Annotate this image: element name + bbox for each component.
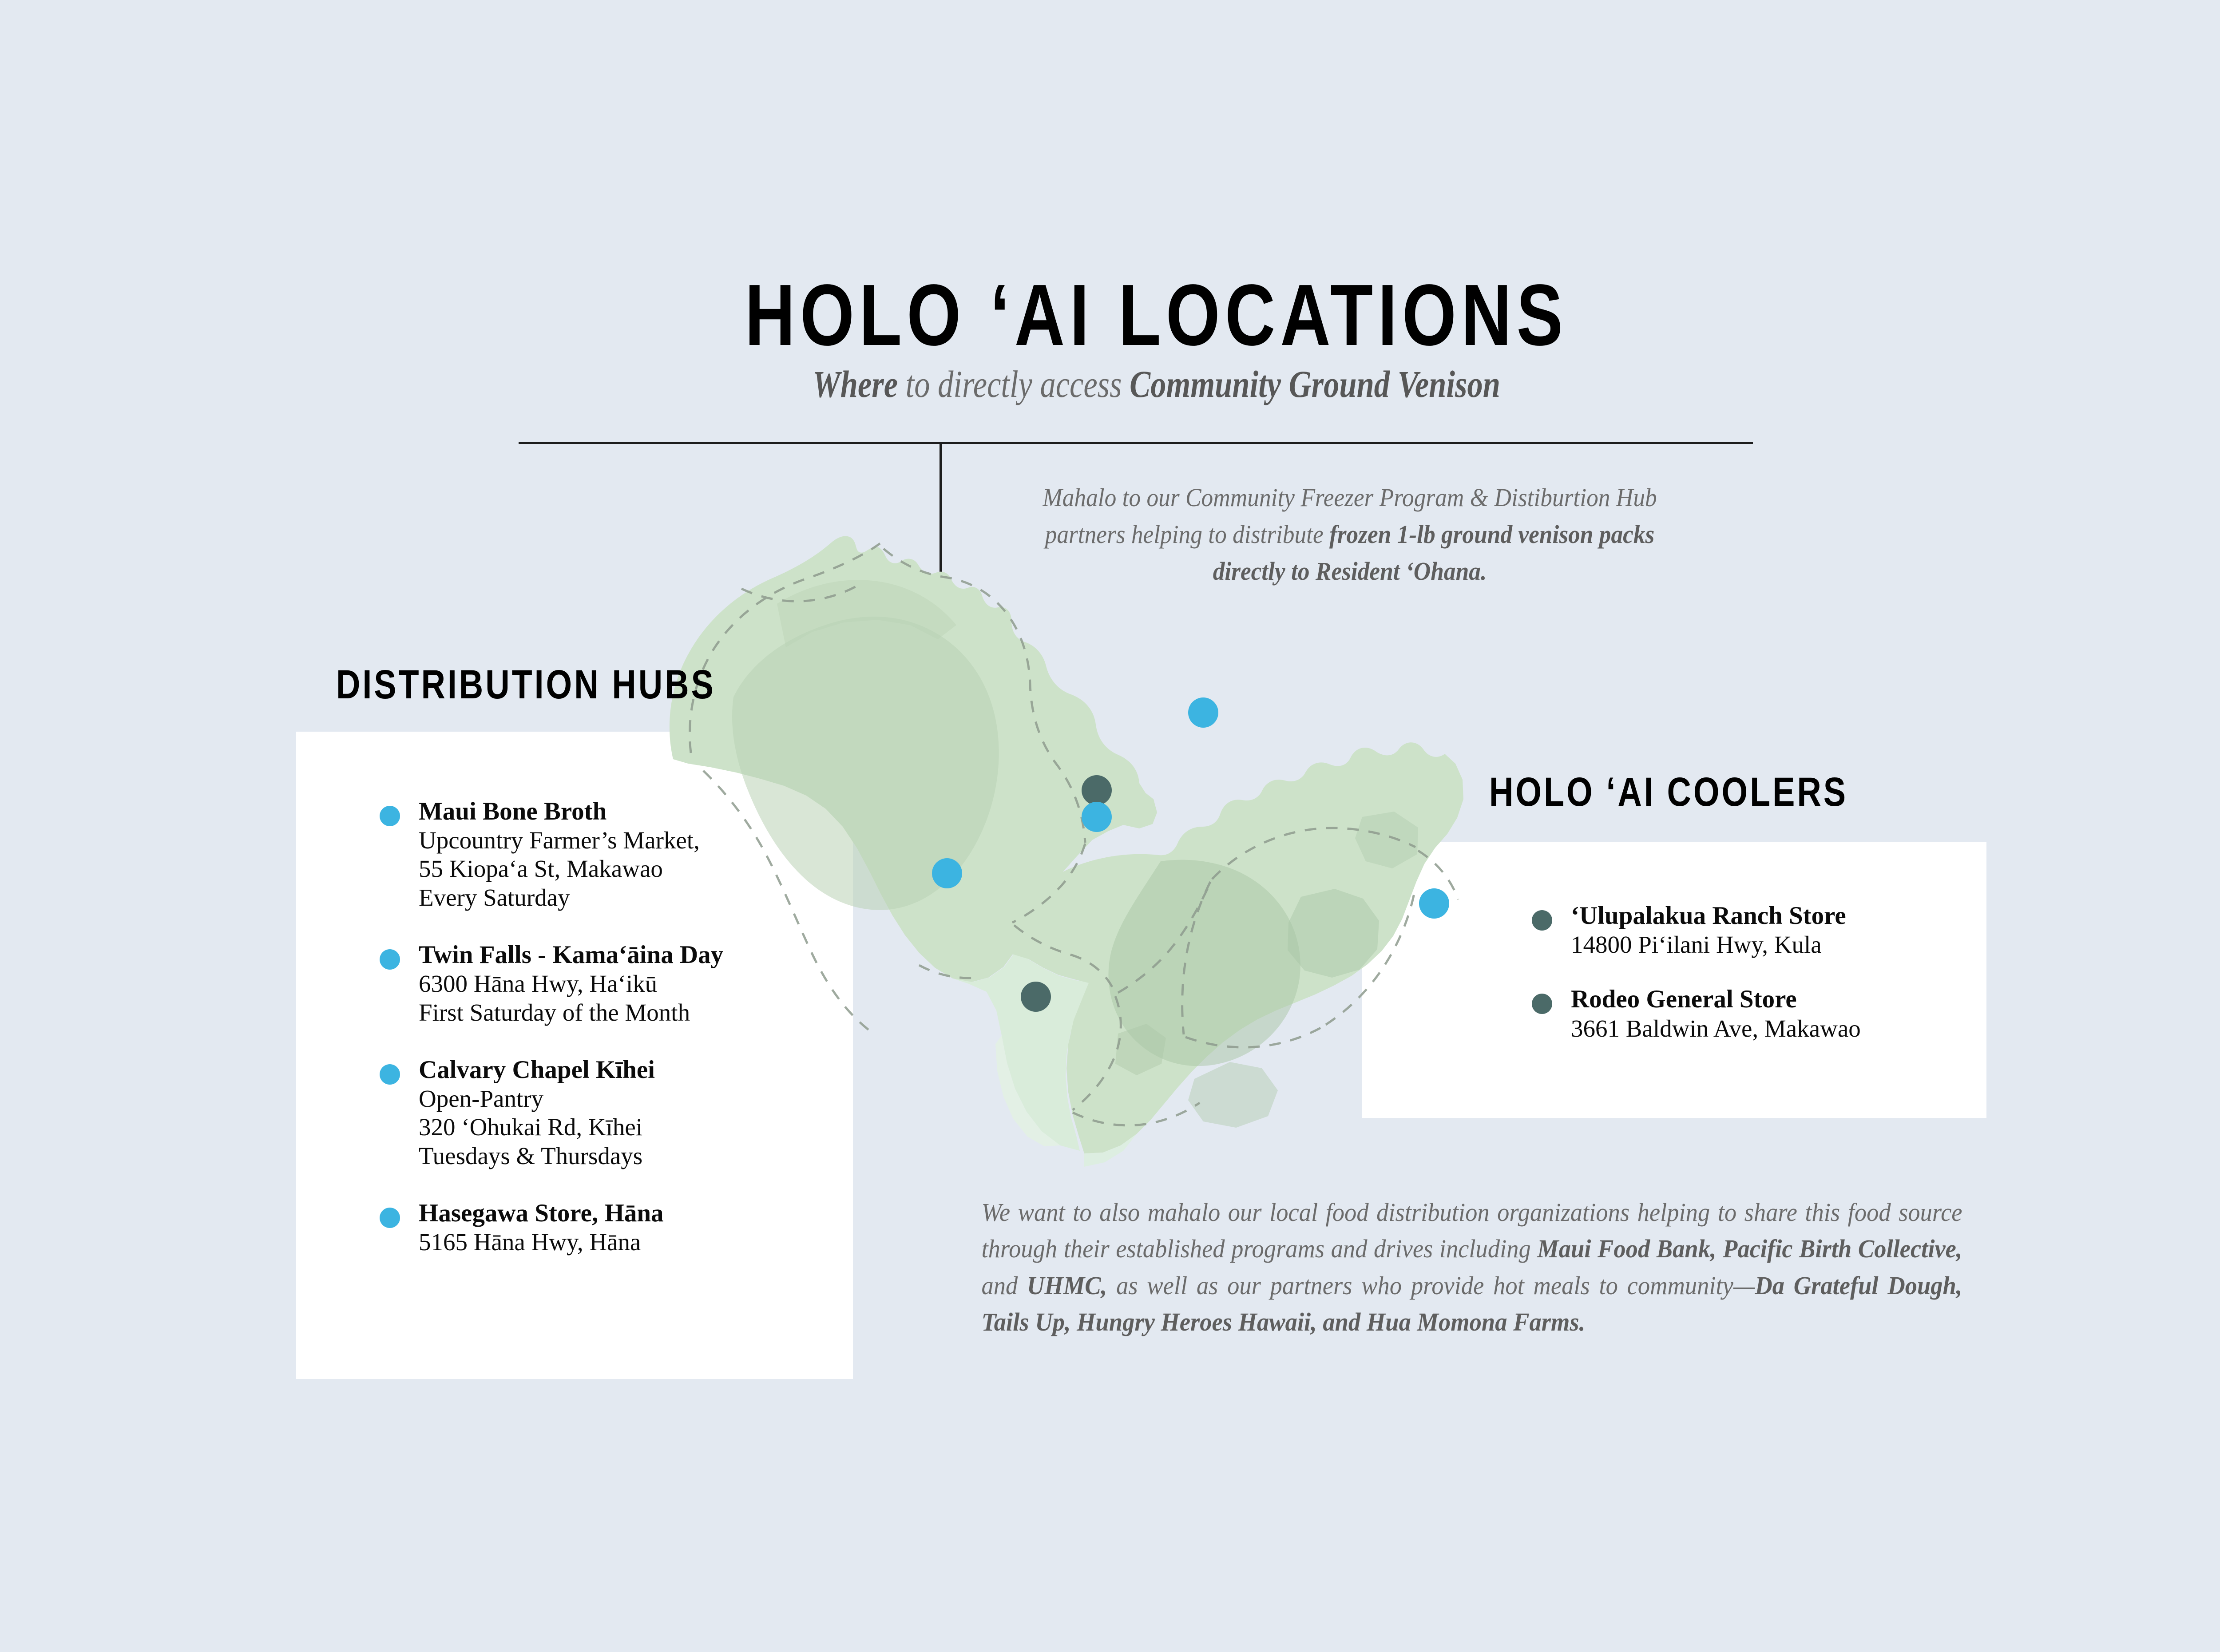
subtitle-mid: to directly access [898, 363, 1130, 405]
hub-detail-line: 55 Kiopaʻa St, Makawao [419, 855, 700, 883]
hub-detail-line: Upcountry Farmer’s Market, [419, 826, 700, 855]
outro-paragraph: We want to also mahalo our local food di… [982, 1194, 1962, 1340]
bullet-dot-icon [1532, 994, 1552, 1014]
map-marker-calvary-chapel-kihei [932, 858, 962, 888]
map-marker-maui-bone-broth [1082, 802, 1112, 832]
outro-bold-2: UHMC, [1027, 1271, 1107, 1300]
map-marker-rodeo-general-store [1082, 775, 1112, 805]
hub-detail-line: First Saturday of the Month [419, 998, 723, 1027]
bullet-dot-icon [1532, 910, 1552, 931]
east-maui-shade-3 [1188, 1062, 1278, 1128]
west-maui-shade-2 [777, 580, 956, 647]
hub-name: Calvary Chapel Kīhei [419, 1055, 655, 1085]
map-marker-twin-falls [1188, 697, 1218, 728]
central-isthmus-land [953, 951, 1090, 1151]
hub-name: Hasegawa Store, Hāna [419, 1199, 664, 1228]
distribution-hubs-heading: DISTRIBUTION HUBS [336, 664, 716, 705]
map-marker-ulupalakua-ranch-store [1021, 982, 1051, 1012]
hub-detail-line: 320 ʻOhukai Rd, Kīhei [419, 1113, 655, 1141]
list-item[interactable]: Twin Falls - Kamaʻāina Day 6300 Hāna Hwy… [380, 940, 850, 1027]
bullet-dot-icon [380, 1208, 400, 1228]
header-divider [519, 442, 1753, 444]
vertical-divider [940, 444, 942, 718]
hub-detail-line: Open-Pantry [419, 1085, 655, 1113]
bullet-dot-icon [380, 1064, 400, 1085]
south-coast-light [1084, 1134, 1137, 1167]
page-subtitle: Where to directly access Community Groun… [208, 365, 2105, 403]
cooler-name: Rodeo General Store [1571, 985, 1861, 1014]
list-item[interactable]: Hasegawa Store, Hāna 5165 Hāna Hwy, Hāna [380, 1199, 850, 1256]
hub-name: Twin Falls - Kamaʻāina Day [419, 940, 723, 970]
cooler-detail-line: 14800 Piʻilani Hwy, Kula [1571, 931, 1846, 959]
hub-name: Maui Bone Broth [419, 797, 700, 826]
distribution-hubs-list: Maui Bone Broth Upcountry Farmer’s Marke… [380, 797, 850, 1257]
east-maui-shade-1 [1108, 860, 1300, 1066]
intro-paragraph: Mahalo to our Community Freezer Program … [1031, 479, 1668, 590]
subtitle-tail: Community Ground Venison [1130, 363, 1500, 405]
cooler-name: ʻUlupalakua Ranch Store [1571, 901, 1846, 931]
cooler-detail-line: 3661 Baldwin Ave, Makawao [1571, 1014, 1861, 1043]
poster-canvas: HOLO ‘AI LOCATIONS Where to directly acc… [0, 0, 2220, 1652]
hub-detail-line: 6300 Hāna Hwy, Haʻikū [419, 970, 723, 998]
list-item[interactable]: Calvary Chapel Kīhei Open-Pantry 320 ʻOh… [380, 1055, 850, 1170]
list-item[interactable]: Rodeo General Store 3661 Baldwin Ave, Ma… [1532, 985, 1976, 1042]
subtitle-lead: Where [813, 363, 898, 405]
holo-ai-coolers-list: ʻUlupalakua Ranch Store 14800 Piʻilani H… [1532, 901, 1976, 1069]
hub-detail-line: Tuesdays & Thursdays [419, 1142, 655, 1170]
hub-detail-line: Every Saturday [419, 883, 700, 912]
page-title: HOLO ‘AI LOCATIONS [231, 272, 2081, 359]
list-item[interactable]: Maui Bone Broth Upcountry Farmer’s Marke… [380, 797, 850, 912]
outro-part-3: as well as our partners who provide hot … [1107, 1271, 1755, 1300]
bullet-dot-icon [380, 806, 400, 826]
hub-detail-line: 5165 Hāna Hwy, Hāna [419, 1228, 664, 1256]
bullet-dot-icon [380, 949, 400, 970]
list-item[interactable]: ʻUlupalakua Ranch Store 14800 Piʻilani H… [1532, 901, 1976, 959]
outro-part-2: and [982, 1271, 1027, 1300]
kihei-coast-light [995, 1035, 1060, 1146]
east-maui-shade-4 [1115, 1024, 1166, 1075]
outro-bold-1: Maui Food Bank, Pacific Birth Collective… [1537, 1234, 1962, 1263]
holo-ai-coolers-heading: HOLO ‘AI COOLERS [1489, 772, 1848, 812]
